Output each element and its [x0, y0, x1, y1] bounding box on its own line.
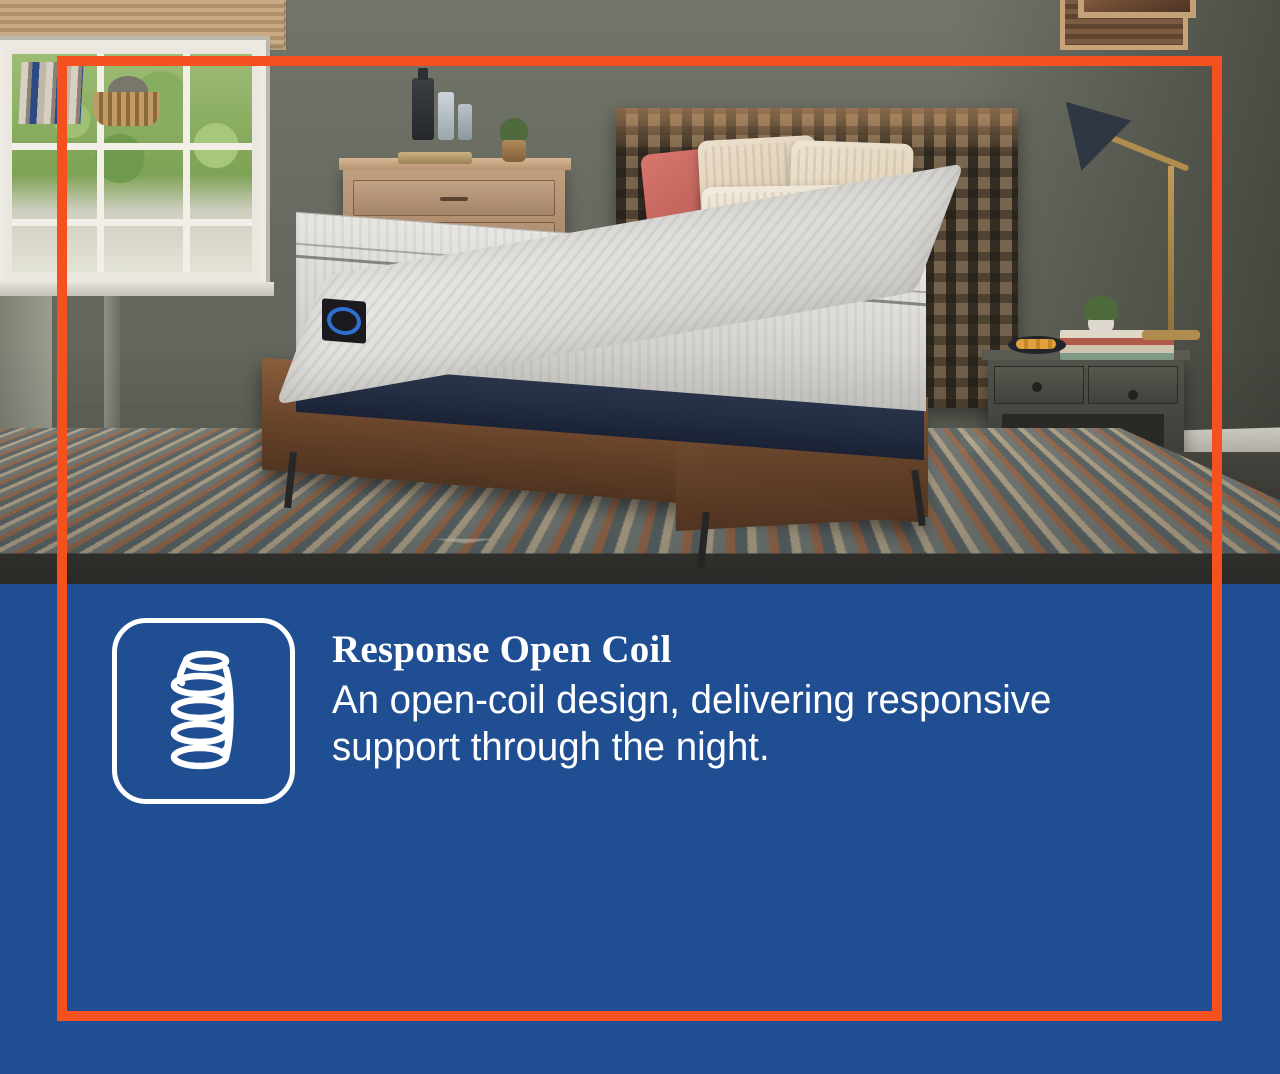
window-mullion	[97, 54, 104, 272]
nightstand-knob	[1032, 382, 1042, 392]
brand-logo-icon	[327, 306, 361, 337]
window-sill	[0, 282, 274, 296]
woven-basket	[94, 92, 160, 126]
wall-picture-frame	[1078, 0, 1196, 18]
promo-banner: Response Open Coil An open-coil design, …	[0, 0, 1280, 1074]
dresser-tray	[398, 152, 472, 164]
window-mullion	[12, 219, 252, 226]
dresser-vase	[458, 104, 472, 140]
feature-description: An open-coil design, delivering responsi…	[332, 677, 1119, 771]
plant-pot	[1088, 318, 1114, 334]
window	[0, 0, 284, 300]
dresser-drawer	[353, 180, 555, 216]
feature-title: Response Open Coil	[332, 630, 1152, 669]
dresser-bottle	[412, 78, 434, 140]
window-mullion	[183, 54, 190, 272]
books	[18, 62, 83, 124]
snack-bowl	[1008, 336, 1066, 354]
window-mullion	[12, 143, 252, 150]
plant	[1084, 296, 1118, 320]
nightstand-knob	[1128, 390, 1138, 400]
bedroom-photo	[0, 0, 1280, 584]
mattress-brand-badge	[322, 298, 366, 343]
feature-text: Response Open Coil An open-coil design, …	[332, 618, 1152, 771]
coil-spring-icon	[112, 618, 295, 804]
lamp-stem	[1168, 166, 1174, 336]
dresser-planter	[502, 140, 526, 162]
lamp-base	[1142, 330, 1200, 340]
feature-block: Response Open Coil An open-coil design, …	[112, 618, 1152, 804]
dresser-vase	[438, 92, 454, 140]
